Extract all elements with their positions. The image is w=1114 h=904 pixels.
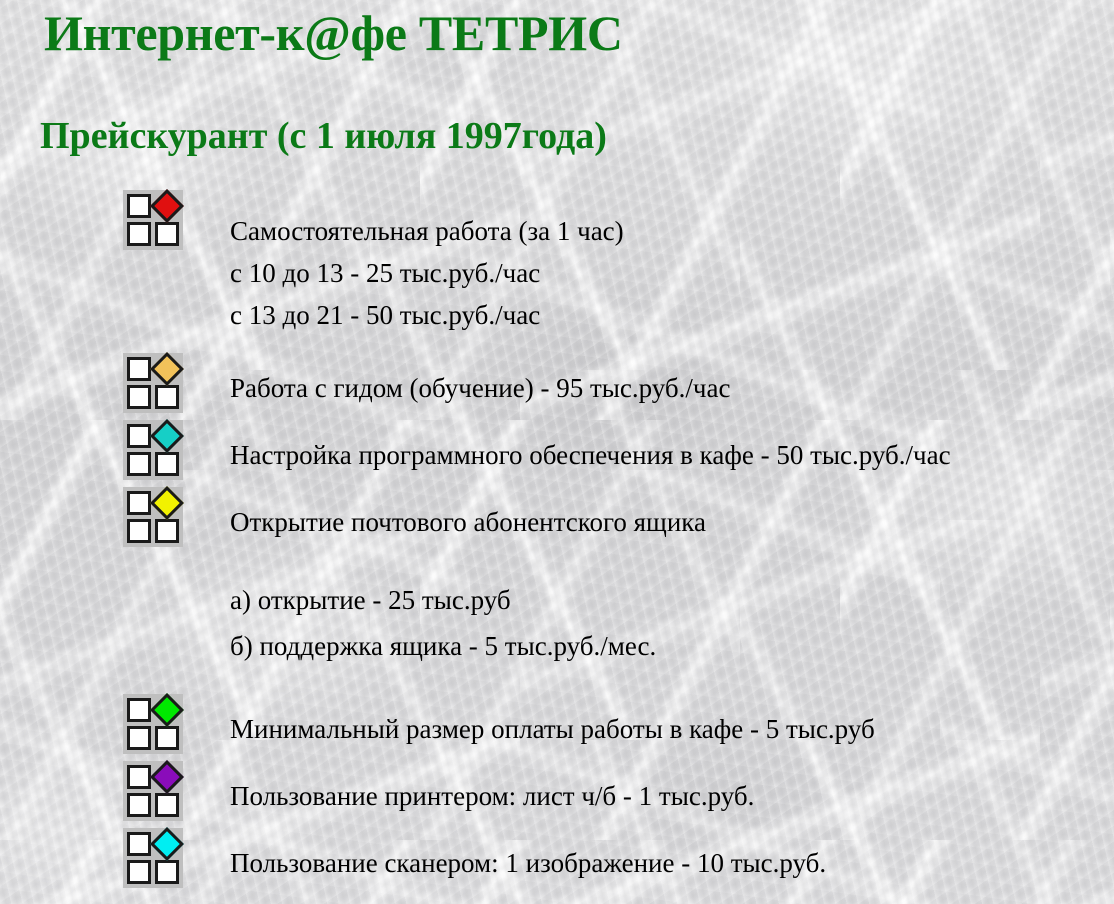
diamond-icon	[150, 827, 184, 861]
price-list: Самостоятельная работа (за 1 час) с 10 д…	[0, 190, 1114, 888]
list-item-text: Минимальный размер оплаты работы в кафе …	[183, 694, 1114, 750]
tetris-cell-top-left	[127, 424, 151, 448]
tetris-bullet-icon	[123, 761, 183, 821]
tetris-cell-bottom-right	[155, 519, 179, 543]
list-item-line: Открытие почтового абонентского ящика	[230, 501, 1114, 543]
list-item-line: Пользование принтером: лист ч/б - 1 тыс.…	[230, 775, 1114, 817]
tetris-cell-bottom-left	[127, 385, 151, 409]
diamond-icon	[150, 486, 184, 520]
tetris-bullet-icon	[123, 420, 183, 480]
list-item-text: Открытие почтового абонентского ящика	[183, 487, 1114, 543]
list-item: Настройка программного обеспечения в каф…	[0, 420, 1114, 480]
tetris-cell-top-left	[127, 698, 151, 722]
tetris-cell-bottom-right	[155, 726, 179, 750]
diamond-icon	[150, 760, 184, 794]
list-item-sub-line: а) открытие - 25 тыс.руб	[230, 578, 511, 622]
price-list-heading: Прейскурант (с 1 июля 1997года)	[0, 64, 1114, 160]
list-item-line: Самостоятельная работа (за 1 час)	[230, 210, 1114, 252]
tetris-bullet-icon	[123, 190, 183, 250]
tetris-cell-top-left	[127, 194, 151, 218]
tetris-cell-bottom-left	[127, 860, 151, 884]
tetris-cell-bottom-left	[127, 793, 151, 817]
list-item: Открытие почтового абонентского ящика	[0, 487, 1114, 547]
list-item: Пользование сканером: 1 изображение - 10…	[0, 828, 1114, 888]
tetris-cell-bottom-right	[155, 860, 179, 884]
page-background: Интернет-к@фе ТЕТРИС Прейскурант (с 1 ию…	[0, 0, 1114, 904]
page-content: Интернет-к@фе ТЕТРИС Прейскурант (с 1 ию…	[0, 0, 1114, 858]
list-item-line: Минимальный размер оплаты работы в кафе …	[230, 708, 1114, 750]
page-title: Интернет-к@фе ТЕТРИС	[0, 0, 1114, 64]
list-item-line: Работа с гидом (обучение) - 95 тыс.руб./…	[230, 367, 1114, 409]
diamond-icon	[150, 693, 184, 727]
tetris-cell-top-left	[127, 765, 151, 789]
tetris-cell-bottom-right	[155, 793, 179, 817]
list-item-text: Пользование принтером: лист ч/б - 1 тыс.…	[183, 761, 1114, 817]
list-item-sub: а) открытие - 25 тыс.руб	[0, 578, 1114, 622]
tetris-bullet-icon	[123, 487, 183, 547]
list-item-line: Пользование сканером: 1 изображение - 10…	[230, 842, 1114, 884]
tetris-cell-bottom-left	[127, 222, 151, 246]
list-item-line: с 13 до 21 - 50 тыс.руб./час	[230, 294, 1114, 336]
tetris-cell-bottom-right	[155, 222, 179, 246]
tetris-cell-bottom-left	[127, 726, 151, 750]
list-item: Самостоятельная работа (за 1 час) с 10 д…	[0, 190, 1114, 336]
tetris-bullet-icon	[123, 694, 183, 754]
list-item-sub: б) поддержка ящика - 5 тыс.руб./мес.	[0, 624, 1114, 668]
tetris-cell-bottom-right	[155, 385, 179, 409]
tetris-cell-bottom-left	[127, 519, 151, 543]
tetris-cell-top-left	[127, 491, 151, 515]
list-item-line: Настройка программного обеспечения в каф…	[230, 434, 1114, 476]
tetris-cell-top-left	[127, 357, 151, 381]
list-item: Пользование принтером: лист ч/б - 1 тыс.…	[0, 761, 1114, 821]
tetris-cell-bottom-left	[127, 452, 151, 476]
diamond-icon	[150, 419, 184, 453]
list-item-text: Самостоятельная работа (за 1 час) с 10 д…	[183, 190, 1114, 336]
list-item-text: Настройка программного обеспечения в каф…	[183, 420, 1114, 476]
list-item: Минимальный размер оплаты работы в кафе …	[0, 694, 1114, 754]
tetris-bullet-icon	[123, 353, 183, 413]
list-item-text: Пользование сканером: 1 изображение - 10…	[183, 828, 1114, 884]
spacer	[0, 670, 1114, 694]
list-item-line: с 10 до 13 - 25 тыс.руб./час	[230, 252, 1114, 294]
tetris-cell-top-left	[127, 832, 151, 856]
spacer	[0, 554, 1114, 578]
diamond-icon	[150, 189, 184, 223]
list-item-sub-line: б) поддержка ящика - 5 тыс.руб./мес.	[230, 624, 656, 668]
tetris-bullet-icon	[123, 828, 183, 888]
diamond-icon	[150, 352, 184, 386]
tetris-cell-bottom-right	[155, 452, 179, 476]
list-item: Работа с гидом (обучение) - 95 тыс.руб./…	[0, 353, 1114, 413]
list-item-text: Работа с гидом (обучение) - 95 тыс.руб./…	[183, 353, 1114, 409]
